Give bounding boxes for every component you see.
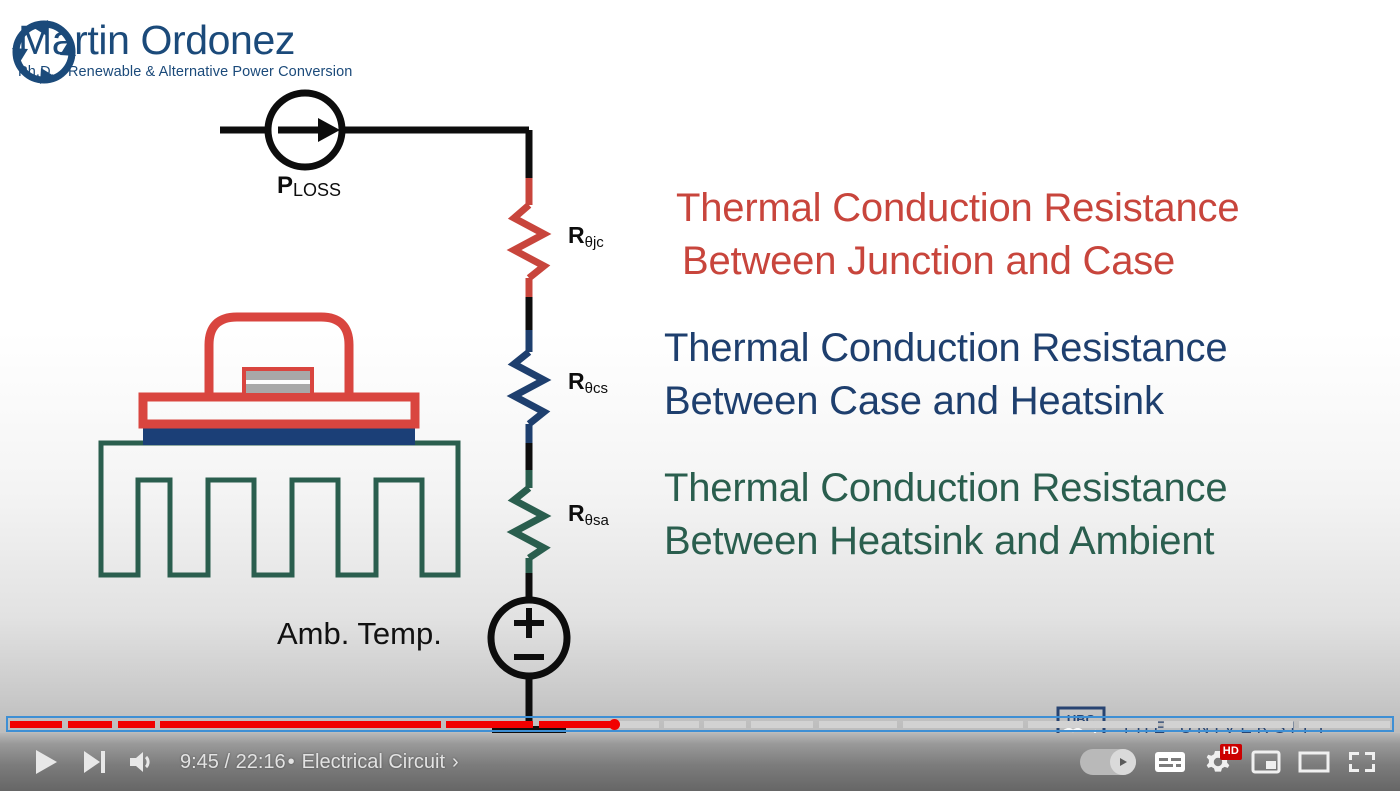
volume-icon	[127, 748, 157, 776]
fullscreen-icon	[1347, 749, 1377, 775]
theater-mode-button[interactable]	[1290, 738, 1338, 786]
theater-mode-icon	[1298, 749, 1330, 775]
progress-chapter-segment[interactable]	[1028, 721, 1158, 728]
resistor-theta-sa	[514, 470, 544, 573]
progress-chapter-segment[interactable]	[539, 721, 659, 728]
next-video-icon	[81, 748, 107, 776]
progress-track[interactable]	[10, 721, 1390, 728]
progress-chapter-segment[interactable]	[10, 721, 62, 728]
miniplayer-button[interactable]	[1242, 738, 1290, 786]
heatsink-illustration	[101, 317, 458, 575]
progress-bar[interactable]	[0, 715, 1400, 733]
resistor-label-theta-cs: Rθcs	[568, 368, 608, 397]
autoplay-knob	[1110, 749, 1136, 775]
description-case-heatsink: Thermal Conduction Resistance Between Ca…	[664, 322, 1227, 428]
resistor-label-theta-jc: Rθjc	[568, 222, 604, 251]
progress-played-fill	[160, 721, 440, 728]
description-heatsink-ambient: Thermal Conduction Resistance Between He…	[664, 462, 1227, 568]
time-display: 9:45 / 22:16	[180, 751, 286, 774]
chapter-title-label: Electrical Circuit	[302, 751, 445, 774]
miniplayer-icon	[1251, 749, 1281, 775]
slide-content: Martin Ordonez Ph.D. - Renewable & Alter…	[0, 0, 1400, 791]
progress-played-fill	[10, 721, 62, 728]
autoplay-track	[1080, 749, 1136, 775]
progress-chapter-segment[interactable]	[704, 721, 745, 728]
progress-chapter-segment[interactable]	[903, 721, 1023, 728]
progress-chapter-segment[interactable]	[160, 721, 440, 728]
fullscreen-button[interactable]	[1338, 738, 1386, 786]
progress-chapter-segment[interactable]	[664, 721, 699, 728]
current-source-symbol	[268, 93, 342, 167]
description-junction-case: Thermal Conduction Resistance Between Ju…	[676, 182, 1239, 288]
subtitles-icon	[1153, 749, 1187, 775]
chapter-separator: •	[288, 751, 295, 774]
resistor-theta-jc	[514, 178, 544, 297]
circular-arrows-logo-icon	[10, 18, 78, 86]
progress-played-fill	[539, 721, 615, 728]
progress-played-fill	[68, 721, 112, 728]
video-player[interactable]: Martin Ordonez Ph.D. - Renewable & Alter…	[0, 0, 1400, 791]
player-controls[interactable]: 9:45 / 22:16 • Electrical Circuit ›	[0, 733, 1400, 791]
volume-button[interactable]	[118, 738, 166, 786]
progress-chapter-segment[interactable]	[1164, 721, 1294, 728]
presenter-logo: Martin Ordonez Ph.D. - Renewable & Alter…	[10, 18, 352, 80]
progress-played-fill	[446, 721, 533, 728]
quality-hd-badge: HD	[1220, 744, 1242, 760]
autoplay-toggle[interactable]	[1080, 747, 1140, 777]
progress-chapter-segment[interactable]	[819, 721, 898, 728]
progress-chapter-segment[interactable]	[68, 721, 112, 728]
voltage-source-symbol	[491, 600, 567, 676]
next-video-button[interactable]	[70, 738, 118, 786]
resistor-theta-cs	[514, 330, 544, 443]
settings-button[interactable]: HD	[1194, 738, 1242, 786]
ambient-temperature-label: Amb. Temp.	[277, 616, 442, 652]
progress-played-fill	[118, 721, 155, 728]
chapter-title-button[interactable]: • Electrical Circuit ›	[288, 751, 459, 774]
resistor-label-theta-sa: Rθsa	[568, 500, 609, 529]
subtitles-button[interactable]	[1146, 738, 1194, 786]
progress-chapter-segment[interactable]	[1299, 721, 1390, 728]
play-small-icon	[1117, 756, 1129, 768]
progress-chapter-segment[interactable]	[446, 721, 533, 728]
progress-chapter-segment[interactable]	[751, 721, 813, 728]
play-icon	[33, 748, 59, 776]
play-button[interactable]	[22, 738, 70, 786]
progress-chapter-segment[interactable]	[118, 721, 155, 728]
chevron-right-icon: ›	[452, 751, 459, 774]
power-loss-label: PLOSS	[277, 172, 341, 201]
